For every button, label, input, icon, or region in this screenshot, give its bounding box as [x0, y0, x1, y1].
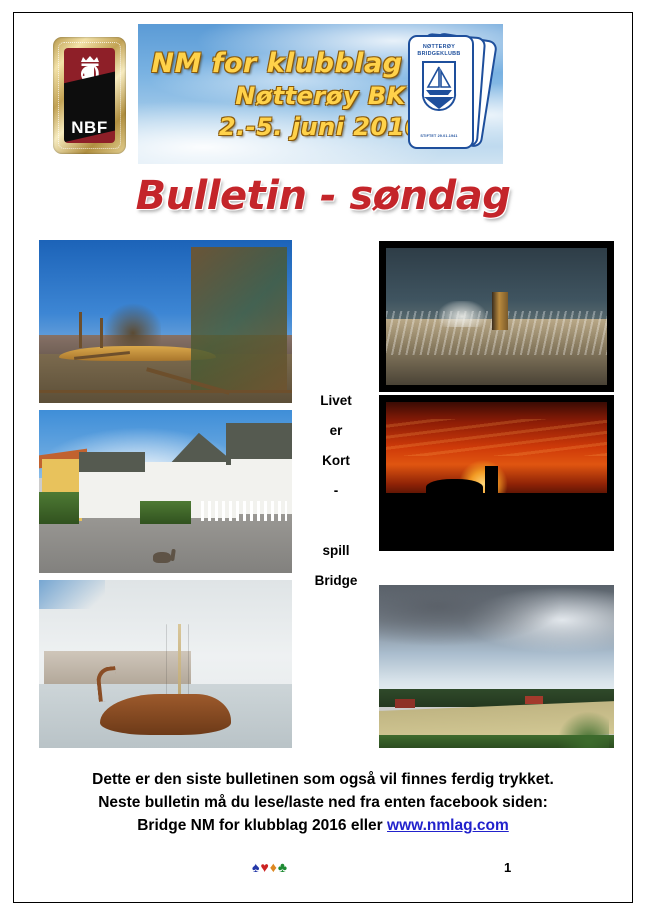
sailboat-icon [421, 60, 457, 112]
slogan-line-2: er [300, 416, 372, 446]
header: NBF NM for klubblag 2016 Nøtterøy BK 2.-… [13, 24, 633, 164]
heart-icon: ♥ [260, 859, 269, 875]
photo-2-cat [153, 552, 171, 563]
note-line-2: Neste bulletin må du lese/laste ned fra … [13, 791, 633, 814]
club-logo-name-line-2: BRIDGEKLUBB [417, 51, 460, 58]
page-title: Bulletin - søndag [0, 173, 646, 219]
slogan-line-1: Livet [300, 386, 372, 416]
photo-5-cloud-streaks [386, 419, 607, 456]
photo-village-street [39, 410, 292, 573]
club-logo-name-line-1: NØTTERØY [423, 44, 455, 51]
photo-6-barn-right [525, 696, 543, 704]
photo-2-hedge-left [39, 492, 79, 525]
card-suit-decoration: ♠♥♦♣ [252, 860, 288, 874]
photo-5-treeline-silhouette [426, 479, 483, 497]
nmlag-website-link[interactable]: www.nmlag.com [387, 817, 509, 834]
note-line-3-prefix: Bridge NM for klubblag 2016 eller [137, 817, 387, 834]
slogan-line-7: Bridge [300, 566, 372, 596]
photo-red-sunset [379, 395, 614, 551]
photo-6-sky [379, 585, 614, 702]
photo-1-post-b [100, 318, 103, 347]
bulletin-page: NBF NM for klubblag 2016 Nøtterøy BK 2.-… [0, 0, 646, 918]
photo-viking-longship [39, 580, 292, 748]
photo-6-barn-left [395, 699, 415, 708]
club-logo-founded-text: STIFTET 29.01.1941 [408, 134, 470, 138]
photo-viking-ship-construction [39, 240, 292, 403]
photo-1-post-a [79, 312, 82, 348]
photo-4-tower [492, 292, 508, 330]
slogan-line-5 [300, 506, 372, 536]
slogan-line-6: spill [300, 536, 372, 566]
slogan-column: Livet er Kort - spill Bridge [300, 386, 372, 596]
photo-5-foreground [386, 493, 607, 544]
photo-3-hull [100, 694, 232, 734]
page-number: 1 [504, 860, 511, 875]
photo-farmland-clouds [379, 585, 614, 748]
photo-1-log [39, 390, 292, 393]
club-logo-face: NØTTERØY BRIDGEKLUBB STIFTET 29.01.1941 [408, 35, 470, 145]
photo-5-tower-silhouette [485, 466, 498, 496]
slogan-line-4: - [300, 476, 372, 506]
photo-2-hedge-mid [140, 501, 191, 524]
nbf-logo-abbr: NBF [64, 118, 115, 138]
club-icon: ♣ [278, 859, 288, 875]
photo-3-apartments [44, 651, 191, 685]
bulletin-note: Dette er den siste bulletinen som også v… [13, 768, 633, 837]
photo-2-picket-fence [201, 501, 287, 521]
notteroy-bridgeklubb-logo: NØTTERØY BRIDGEKLUBB STIFTET 29.01.1941 [398, 30, 496, 158]
photo-3-blue-sky-patch [39, 580, 105, 609]
event-banner-line-3: 2.-5. juni 2016 [219, 113, 422, 141]
photo-2-roof-a [79, 452, 145, 472]
photo-1-scaffold [191, 247, 287, 390]
note-line-3: Bridge NM for klubblag 2016 eller www.nm… [13, 814, 633, 837]
photo-3-mast [178, 624, 181, 701]
slogan-line-3: Kort [300, 446, 372, 476]
event-banner-line-2: Nøtterøy BK [235, 82, 406, 110]
nbf-logo: NBF [53, 37, 126, 154]
photo-6-bush [558, 712, 610, 748]
photo-3-prow [95, 666, 118, 702]
nbf-logo-shield: NBF [64, 48, 115, 143]
photo-4-frozen-trees [439, 301, 485, 327]
diamond-icon: ♦ [270, 859, 278, 875]
photo-2-house-a [79, 472, 145, 518]
photo-tower-frosty-hill [379, 241, 614, 392]
note-line-1: Dette er den siste bulletinen som også v… [13, 768, 633, 791]
